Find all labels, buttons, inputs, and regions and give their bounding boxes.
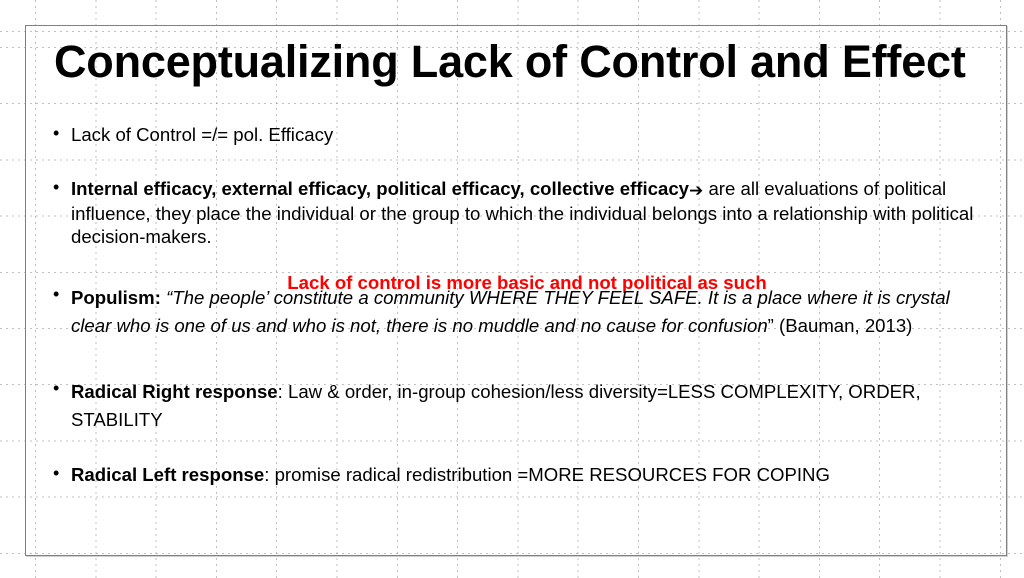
bullet-label-colon: : — [155, 287, 161, 308]
bullet-radical-left[interactable]: Radical Left response: promise radical r… — [44, 463, 992, 487]
bullet-label: Radical Right response — [71, 381, 278, 402]
bullet-radical-right[interactable]: Radical Right response: Law & order, in-… — [44, 378, 992, 435]
slide-title[interactable]: Conceptualizing Lack of Control and Effe… — [54, 38, 974, 87]
bullet-lack-of-control-efficacy[interactable]: Lack of Control =/= pol. Efficacy — [44, 123, 992, 147]
bullet-lead-text: Internal efficacy, external efficacy, po… — [71, 178, 689, 199]
slide-body: Lack of Control =/= pol. Efficacy Intern… — [44, 123, 992, 487]
slide-content-area: Conceptualizing Lack of Control and Effe… — [26, 26, 1006, 555]
bullet-text: promise radical redistribution =MORE RES… — [269, 464, 830, 485]
right-arrow-icon: ➔ — [689, 181, 703, 203]
bullet-populism[interactable]: Populism: “The people’ constitute a comm… — [44, 284, 992, 341]
bullet-efficacy-definitions[interactable]: Internal efficacy, external efficacy, po… — [44, 177, 992, 249]
bullet-label: Radical Left response — [71, 464, 264, 485]
slide-editor-canvas: Conceptualizing Lack of Control and Effe… — [0, 0, 1024, 578]
bullet-text: Lack of Control =/= pol. Efficacy — [71, 124, 333, 145]
populism-citation: (Bauman, 2013) — [774, 315, 913, 336]
bullet-label: Populism — [71, 287, 155, 308]
slide[interactable]: Conceptualizing Lack of Control and Effe… — [25, 25, 1007, 556]
